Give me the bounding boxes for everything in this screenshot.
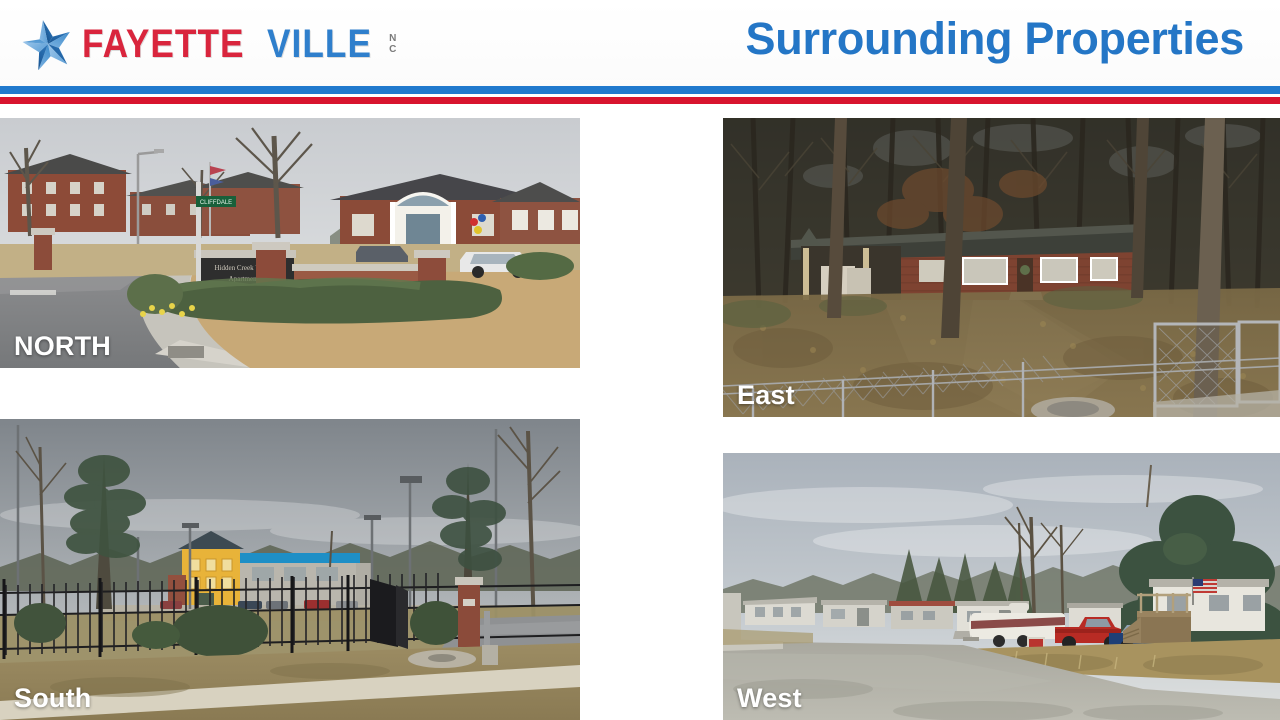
fayetteville-wordmark: FAYETTE VILLE N C	[82, 21, 397, 67]
photo-east: East	[723, 118, 1280, 417]
wordmark-state-abbrev: N C	[389, 33, 397, 56]
photo-south: South	[0, 419, 580, 720]
divider-blue	[0, 86, 1280, 94]
photo-north-image: Hidden Creek Village Apartments CLIFFDAL…	[0, 118, 580, 368]
svg-text:CLIFFDALE: CLIFFDALE	[200, 200, 232, 206]
slide-surrounding-properties: FAYETTE VILLE N C Surrounding Properties	[0, 0, 1280, 720]
photo-west-image	[723, 453, 1280, 720]
photo-west: West	[723, 453, 1280, 720]
photo-east-image	[723, 118, 1280, 417]
page-title: Surrounding Properties	[746, 13, 1244, 65]
state-letter-c: C	[389, 44, 397, 56]
photo-north: Hidden Creek Village Apartments CLIFFDAL…	[0, 118, 580, 368]
wordmark-ville: VILLE	[267, 24, 372, 64]
slide-header: FAYETTE VILLE N C Surrounding Properties	[0, 0, 1280, 86]
divider-red	[0, 97, 1280, 104]
wordmark-fayette: FAYETTE	[82, 24, 245, 64]
fayetteville-logo: FAYETTE VILLE N C	[22, 16, 397, 72]
five-point-star-icon	[22, 18, 74, 70]
photo-south-image	[0, 419, 580, 720]
state-letter-n: N	[389, 33, 397, 45]
